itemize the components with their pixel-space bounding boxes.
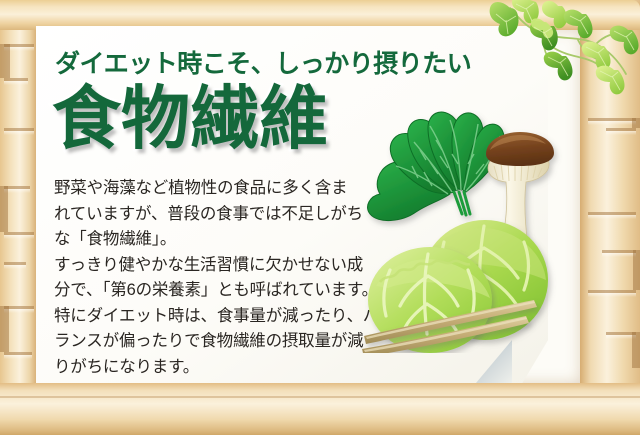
- wood-plank-step: [0, 306, 9, 352]
- body-line: 野菜や海藻など植物性の食品に多く含ま: [54, 176, 372, 202]
- headline: ダイエット時こそ、しっかり摂りたい: [55, 44, 525, 80]
- body-line: な「食物繊維」。: [54, 227, 372, 253]
- wood-plank-notch: [4, 128, 34, 131]
- page-title: 食物繊維: [52, 84, 328, 153]
- body-line: 分で、「第6の栄養素」とも呼ばれています。: [54, 278, 372, 304]
- wood-plank-notch: [606, 128, 636, 131]
- wood-plank-step: [633, 250, 640, 290]
- vegetable-illustration: [358, 108, 563, 353]
- wood-plank-notch: [4, 232, 34, 235]
- wood-plank-notch: [588, 290, 636, 293]
- wood-plank-step: [632, 118, 640, 128]
- wood-plank-notch: [588, 212, 636, 215]
- body-line: りがちになります。: [54, 355, 372, 381]
- wood-plank-notch: [4, 78, 28, 81]
- ivy-leaf: [490, 0, 639, 94]
- body-line: ランスが偏ったりで食物繊維の摂取量が減: [54, 329, 372, 355]
- spinach-leaves: [368, 112, 505, 221]
- wood-plank-notch: [588, 118, 636, 121]
- wood-frame-bottom-rail: [0, 383, 640, 435]
- wood-plank-notch: [4, 262, 26, 265]
- wood-plank-step: [632, 332, 640, 368]
- body-text: 野菜や海藻など植物性の食品に多く含ま れていますが、普段の食事では不足しがち な…: [54, 176, 372, 380]
- wood-plank-step: [0, 44, 10, 78]
- body-line: 特にダイエット時は、食事量が減ったり、バ: [54, 304, 372, 330]
- body-line: すっきり健やかな生活習慣に欠かせない成: [54, 253, 372, 279]
- ivy-vine-decoration: [488, 0, 640, 108]
- wood-plank-notch: [602, 250, 636, 253]
- poster-canvas: ダイエット時こそ、しっかり摂りたい 食物繊維 野菜や海藻など植物性の食品に多く含…: [0, 0, 640, 435]
- wood-plank-step: [0, 186, 8, 232]
- body-line: れていますが、普段の食事では不足しがち: [54, 202, 372, 228]
- wood-plank-notch: [4, 352, 32, 355]
